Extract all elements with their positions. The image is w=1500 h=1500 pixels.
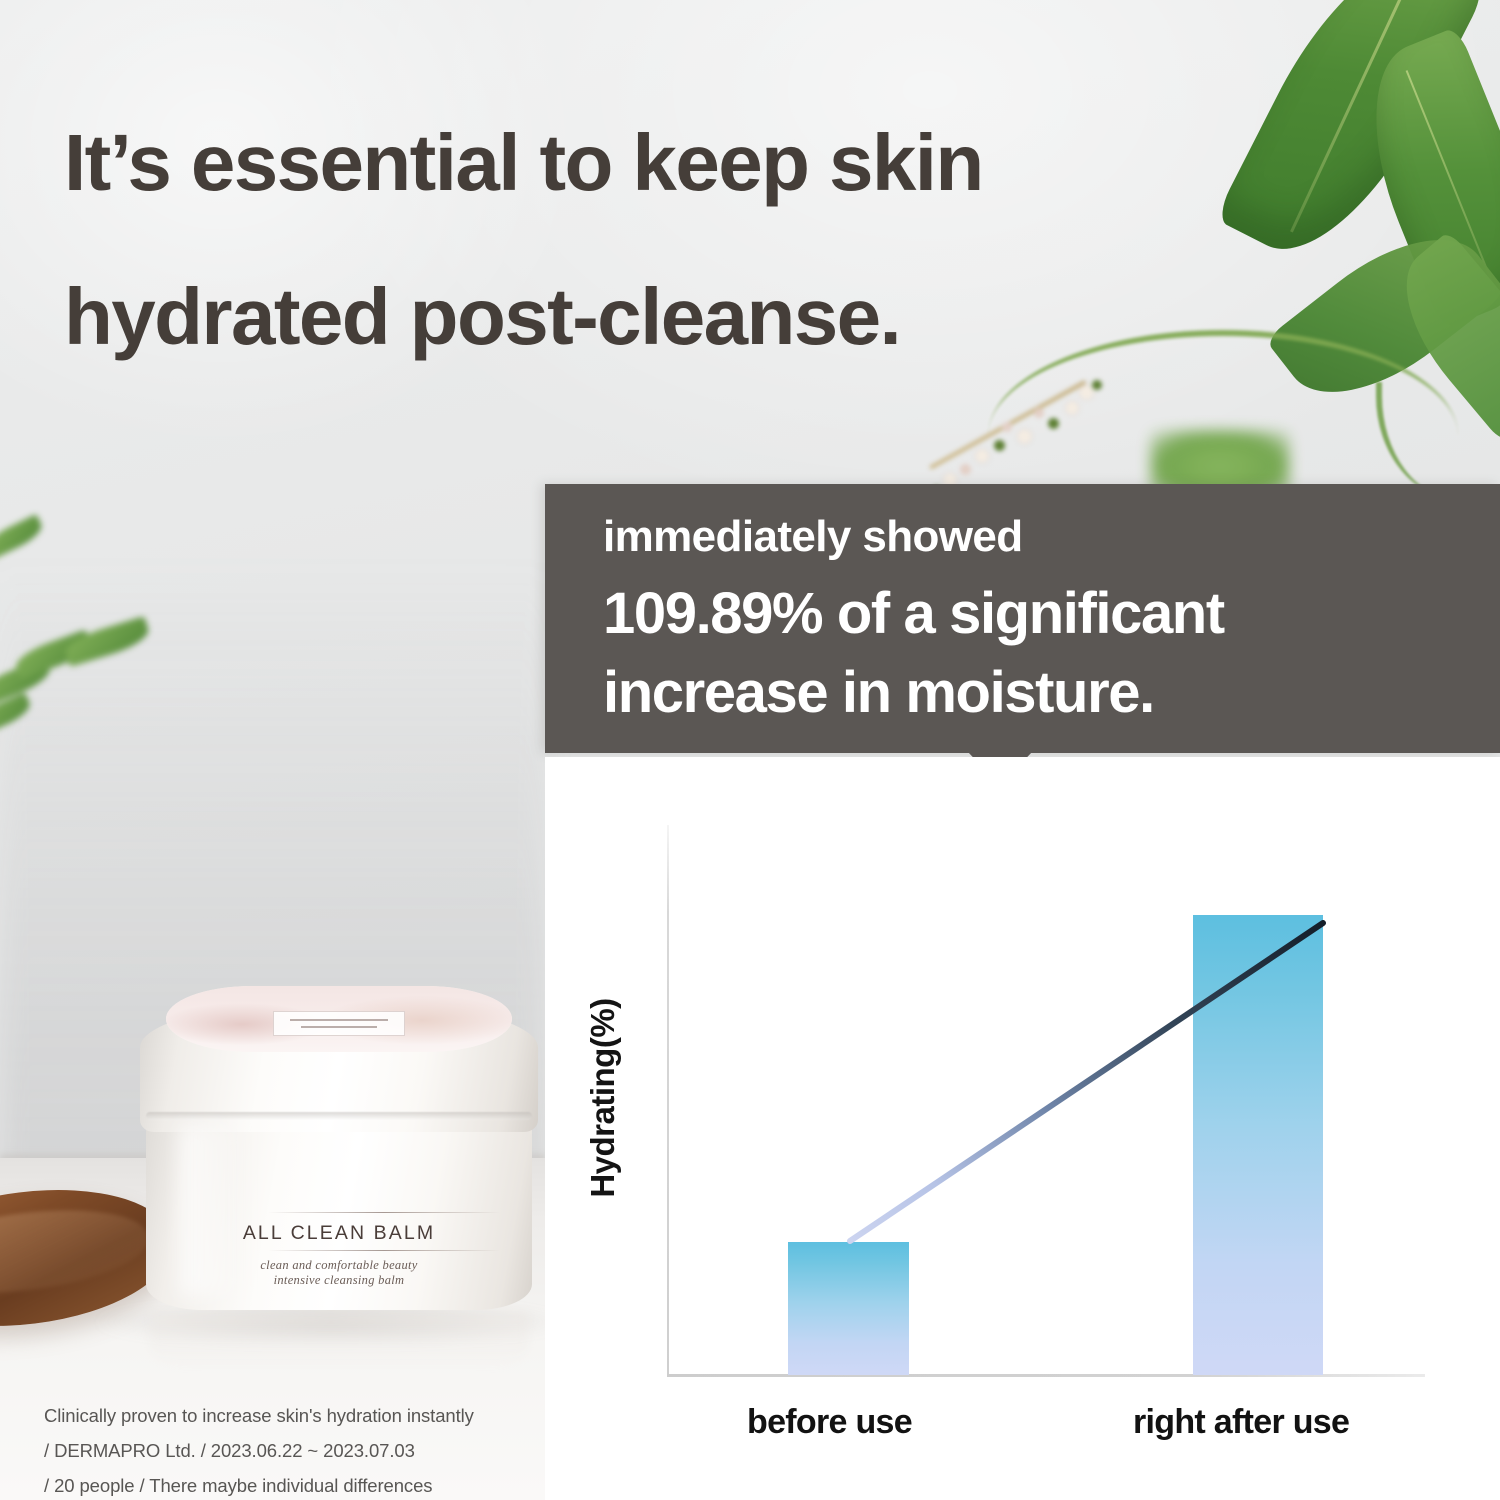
claim-lead-text: immediately showed (603, 508, 1480, 567)
category-label-before-use: before use (747, 1403, 912, 1442)
claim-body-line-1: 109.89% of a significant (603, 575, 1480, 654)
headline-line-2: hydrated post-cleanse. (64, 240, 1284, 394)
bar-right-after-use (1193, 915, 1323, 1375)
footnote-line-1: Clinically proven to increase skin's hyd… (44, 1398, 544, 1433)
claim-callout-content: immediately showed 109.89% of a signific… (603, 508, 1480, 733)
jar-lid-label (273, 1011, 404, 1036)
jar-rim (146, 1112, 532, 1120)
product-brand-name: ALL CLEAN BALM (140, 1222, 538, 1245)
bar-before-use (788, 1242, 909, 1375)
footnote-line-3: / 20 people / There maybe individual dif… (44, 1468, 544, 1500)
footnote-line-2: / DERMAPRO Ltd. / 2023.06.22 ~ 2023.07.0… (44, 1433, 544, 1468)
trend-line (545, 757, 1500, 1500)
blurred-leaf-sprig (0, 520, 158, 730)
product-tagline-line-1: clean and comfortable beauty (260, 1258, 417, 1272)
claim-callout-box: immediately showed 109.89% of a signific… (545, 484, 1500, 753)
jar-lid-top-surface (166, 986, 512, 1052)
category-label-right-after-use: right after use (1133, 1403, 1349, 1442)
product-jar: ALL CLEAN BALM clean and comfortable bea… (140, 986, 538, 1316)
flowering-sprig (930, 378, 1110, 500)
study-footnote: Clinically proven to increase skin's hyd… (44, 1398, 544, 1500)
headline-line-1: It’s essential to keep skin (64, 86, 1284, 240)
y-axis-line (667, 825, 669, 1375)
jar-reflection (150, 1312, 528, 1368)
plant-stem (1376, 382, 1472, 500)
claim-body-line-2: increase in moisture. (603, 654, 1480, 733)
label-rule-top (268, 1212, 500, 1213)
product-tagline-line-2: intensive cleansing balm (274, 1273, 405, 1287)
hydration-chart-panel: Hydrating(%) before use right after use (545, 757, 1500, 1500)
y-axis-label: Hydrating(%) (584, 978, 622, 1218)
label-rule-bottom (268, 1250, 500, 1251)
page-headline: It’s essential to keep skin hydrated pos… (64, 86, 1284, 393)
chart-plot-area: Hydrating(%) before use right after use (545, 757, 1500, 1500)
claim-body-text: 109.89% of a significant increase in moi… (603, 575, 1480, 733)
product-tagline: clean and comfortable beauty intensive c… (140, 1258, 538, 1288)
